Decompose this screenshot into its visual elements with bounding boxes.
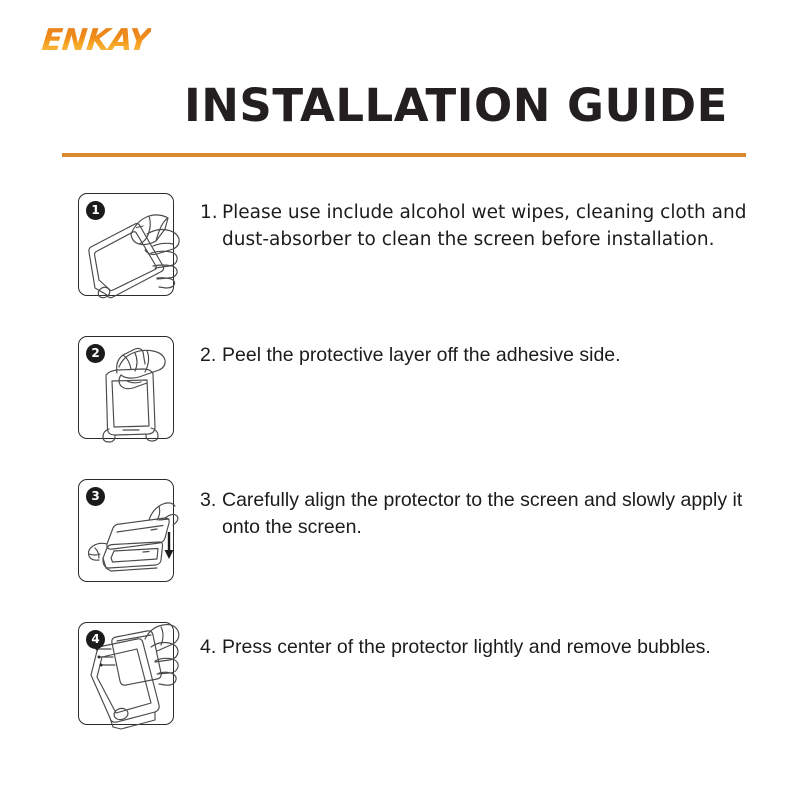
step-3-figure: 3 xyxy=(78,479,174,582)
step-4-body: Press center of the protector lightly an… xyxy=(222,632,775,663)
step-1-body: Please use include alcohol wet wipes, cl… xyxy=(222,199,775,253)
step-1-number-badge: 1 xyxy=(86,201,105,220)
step-3-body: Carefully align the protector to the scr… xyxy=(222,487,775,541)
step-2-marker: 2. xyxy=(200,342,222,369)
step-1-figure: 1 xyxy=(78,193,174,296)
step-2-figure: 2 xyxy=(78,336,174,439)
step-3-number-badge: 3 xyxy=(86,487,105,506)
step-2-body: Peel the protective layer off the adhesi… xyxy=(222,342,775,369)
step-3-text: 3. Carefully align the protector to the … xyxy=(200,487,775,541)
step-4-figure: 4 xyxy=(78,622,174,725)
step-4-number-badge: 4 xyxy=(86,630,105,649)
step-4-marker: 4. xyxy=(200,632,222,663)
step-4-text: 4. Press center of the protector lightly… xyxy=(200,632,775,663)
step-3-marker: 3. xyxy=(200,487,222,514)
installation-steps-list: 1 xyxy=(0,0,800,800)
step-1-text: 1. Please use include alcohol wet wipes,… xyxy=(200,199,775,253)
step-2-number-badge: 2 xyxy=(86,344,105,363)
step-2-text: 2. Peel the protective layer off the adh… xyxy=(200,342,775,369)
step-1-marker: 1. xyxy=(200,199,222,226)
